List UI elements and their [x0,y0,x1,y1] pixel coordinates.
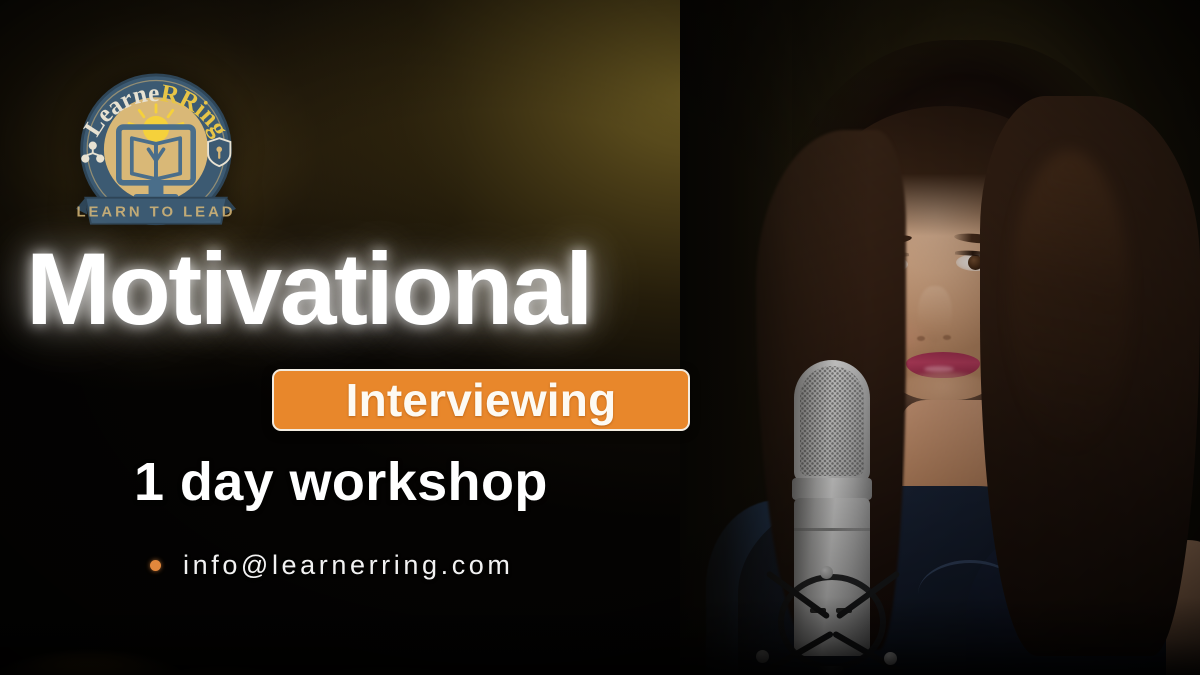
contact-email[interactable]: info@learnerring.com [183,552,514,579]
learnerring-logo[interactable]: LearneRRing LEARN TO LEAD [63,56,249,252]
bullet-dot-icon [150,560,161,571]
workshop-duration-label: 1 day workshop [134,455,548,509]
promo-banner: LearneRRing LEARN TO LEAD Motivational I… [0,0,1200,675]
subtitle-badge: Interviewing [272,369,690,431]
logo-shield-icon [208,138,230,166]
contact-row: info@learnerring.com [150,552,514,579]
subtitle-text: Interviewing [346,377,617,423]
background-bottom-fade [0,597,1200,675]
logo-tagline-text: LEARN TO LEAD [76,204,235,220]
logo-book-icon [132,138,180,179]
page-title: Motivational [26,238,591,340]
